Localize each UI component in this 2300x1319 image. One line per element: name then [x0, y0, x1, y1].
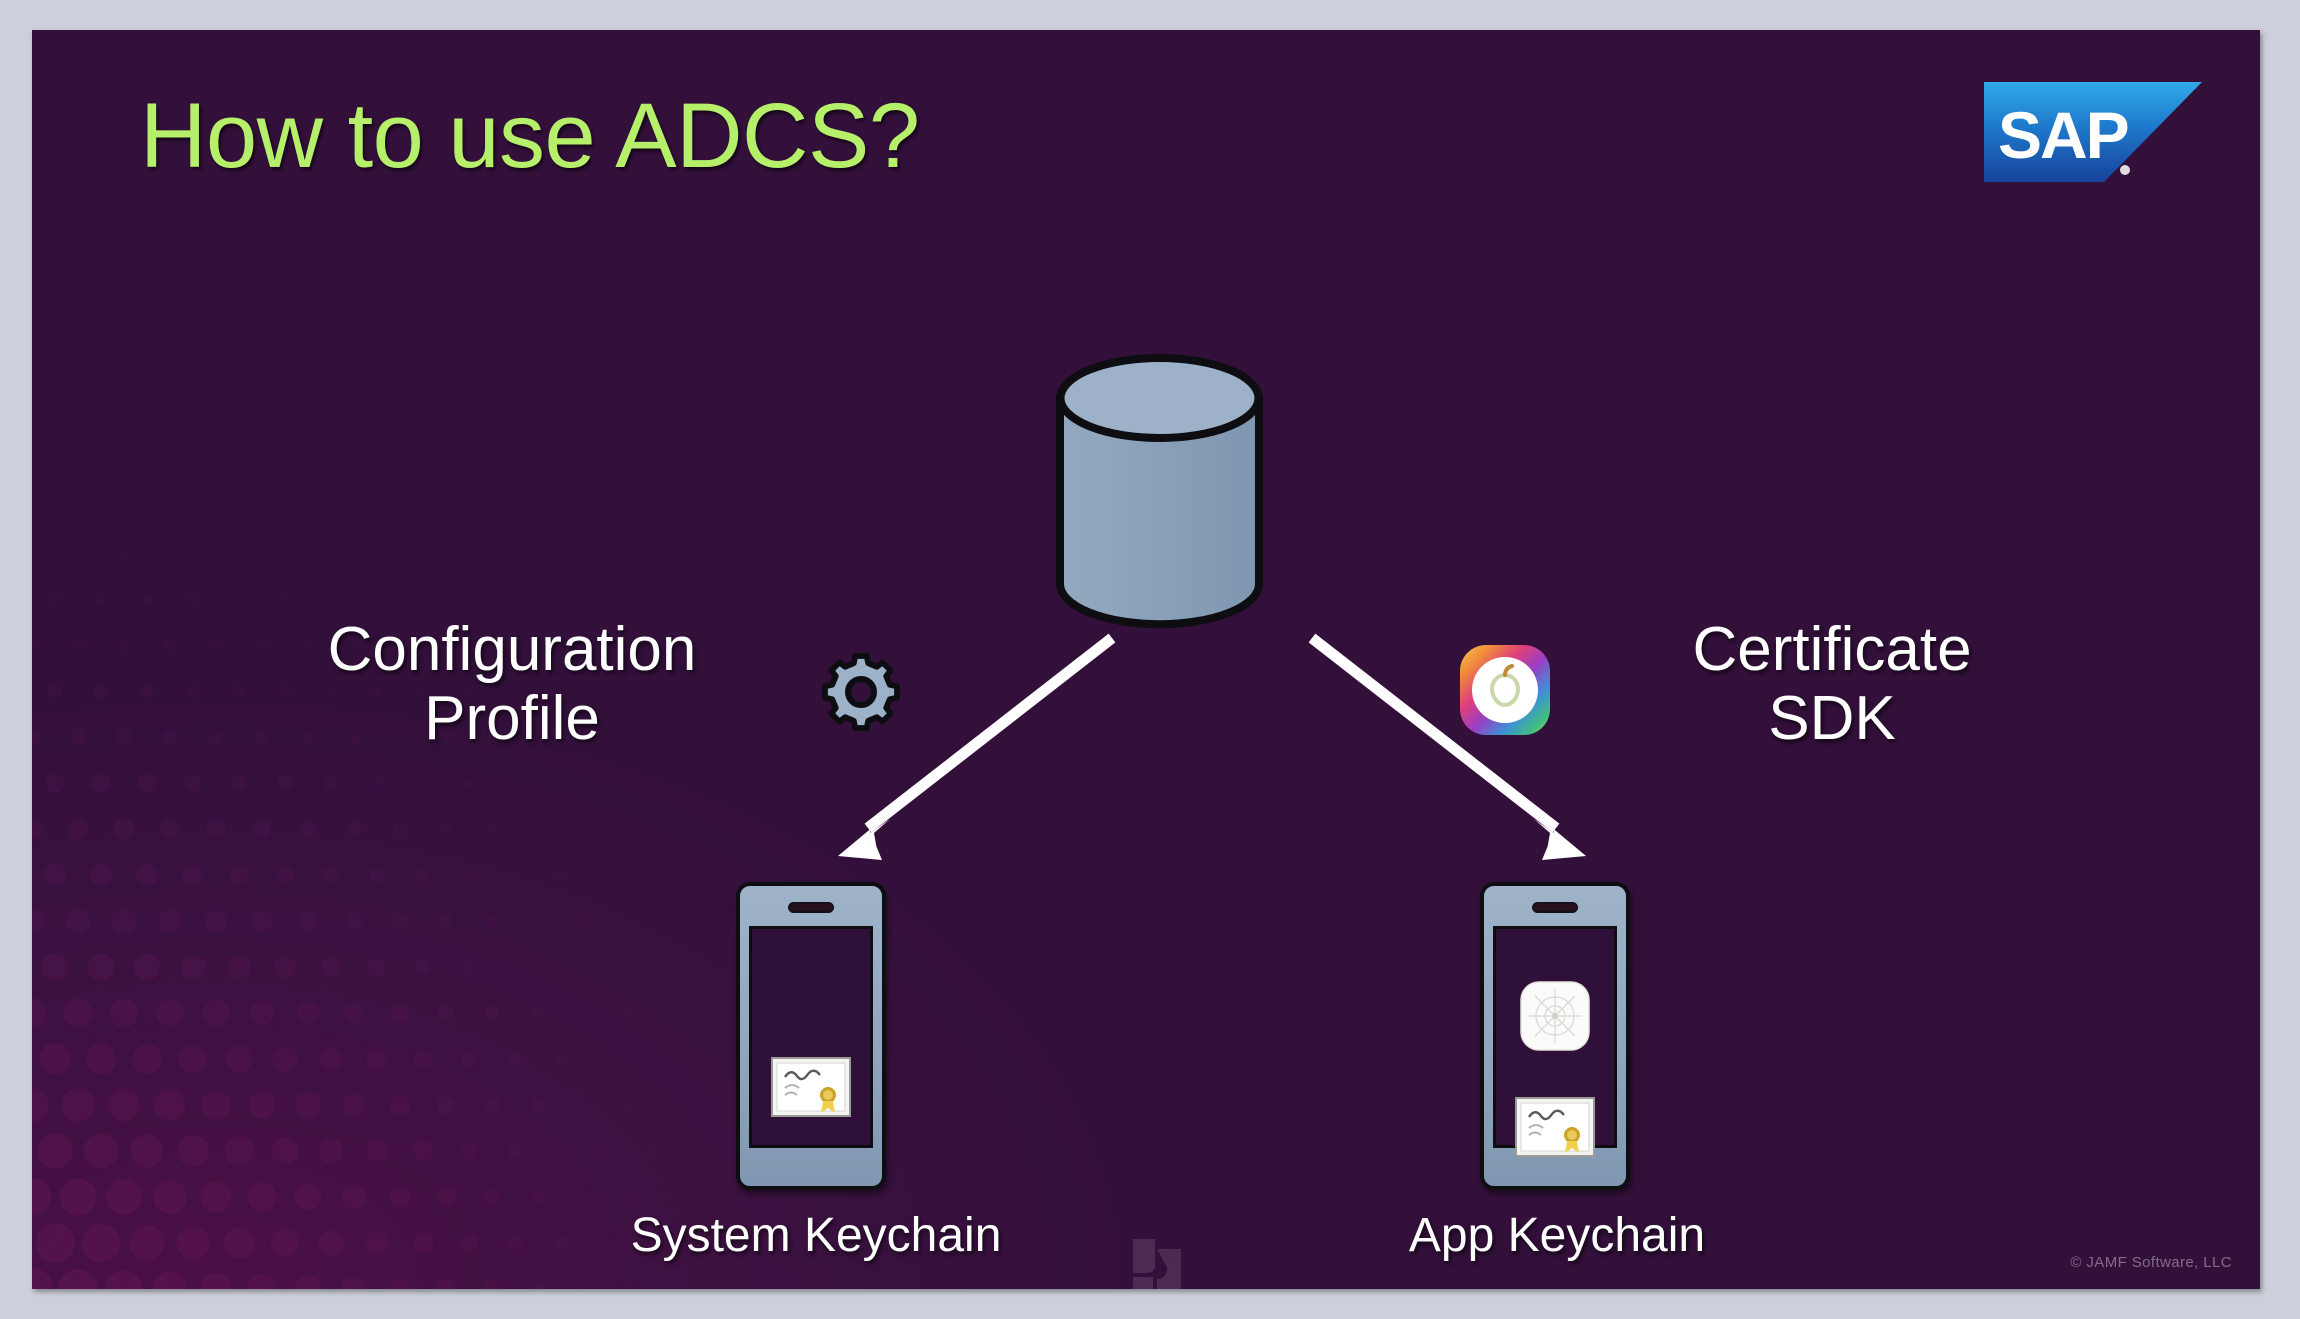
gear-icon: [817, 648, 905, 736]
certificate-sdk-label-line2: SDK: [1617, 684, 2047, 753]
page-title: How to use ADCS?: [140, 88, 919, 185]
certificate-icon: [1515, 1097, 1595, 1157]
iphone-system-keychain: [736, 882, 886, 1190]
configuration-profile-label-line1: Configuration: [282, 615, 742, 684]
app-keychain-caption: App Keychain: [1362, 1208, 1752, 1263]
apple-sdk-icon: [1457, 642, 1553, 738]
certificate-sdk-label-line1: Certificate: [1617, 615, 2047, 684]
copyright-notice: © JAMF Software, LLC: [2070, 1254, 2232, 1271]
phone-speaker-right: [1532, 902, 1578, 913]
phone-speaker-left: [788, 902, 834, 913]
slide-frame: How to use ADCS? SAP: [0, 0, 2300, 1319]
app-icon: [1520, 981, 1590, 1051]
sap-logo: SAP: [1984, 82, 2202, 182]
certificate-icon: [771, 1057, 851, 1117]
presentation-slide: How to use ADCS? SAP: [32, 30, 2260, 1289]
configuration-profile-label-line2: Profile: [282, 684, 742, 753]
arrow-to-app-keychain: [1292, 620, 1612, 870]
system-keychain-caption: System Keychain: [591, 1208, 1041, 1263]
phone-screen-right: [1493, 926, 1617, 1148]
iphone-app-keychain: [1480, 882, 1630, 1190]
database-cylinder-icon: [1052, 352, 1267, 630]
certificate-sdk-label: Certificate SDK: [1617, 615, 2047, 754]
svg-text:SAP: SAP: [1998, 98, 2128, 172]
phone-screen-left: [749, 926, 873, 1148]
configuration-profile-label: Configuration Profile: [282, 615, 742, 754]
jamf-logo-watermark: [1127, 1235, 1189, 1289]
